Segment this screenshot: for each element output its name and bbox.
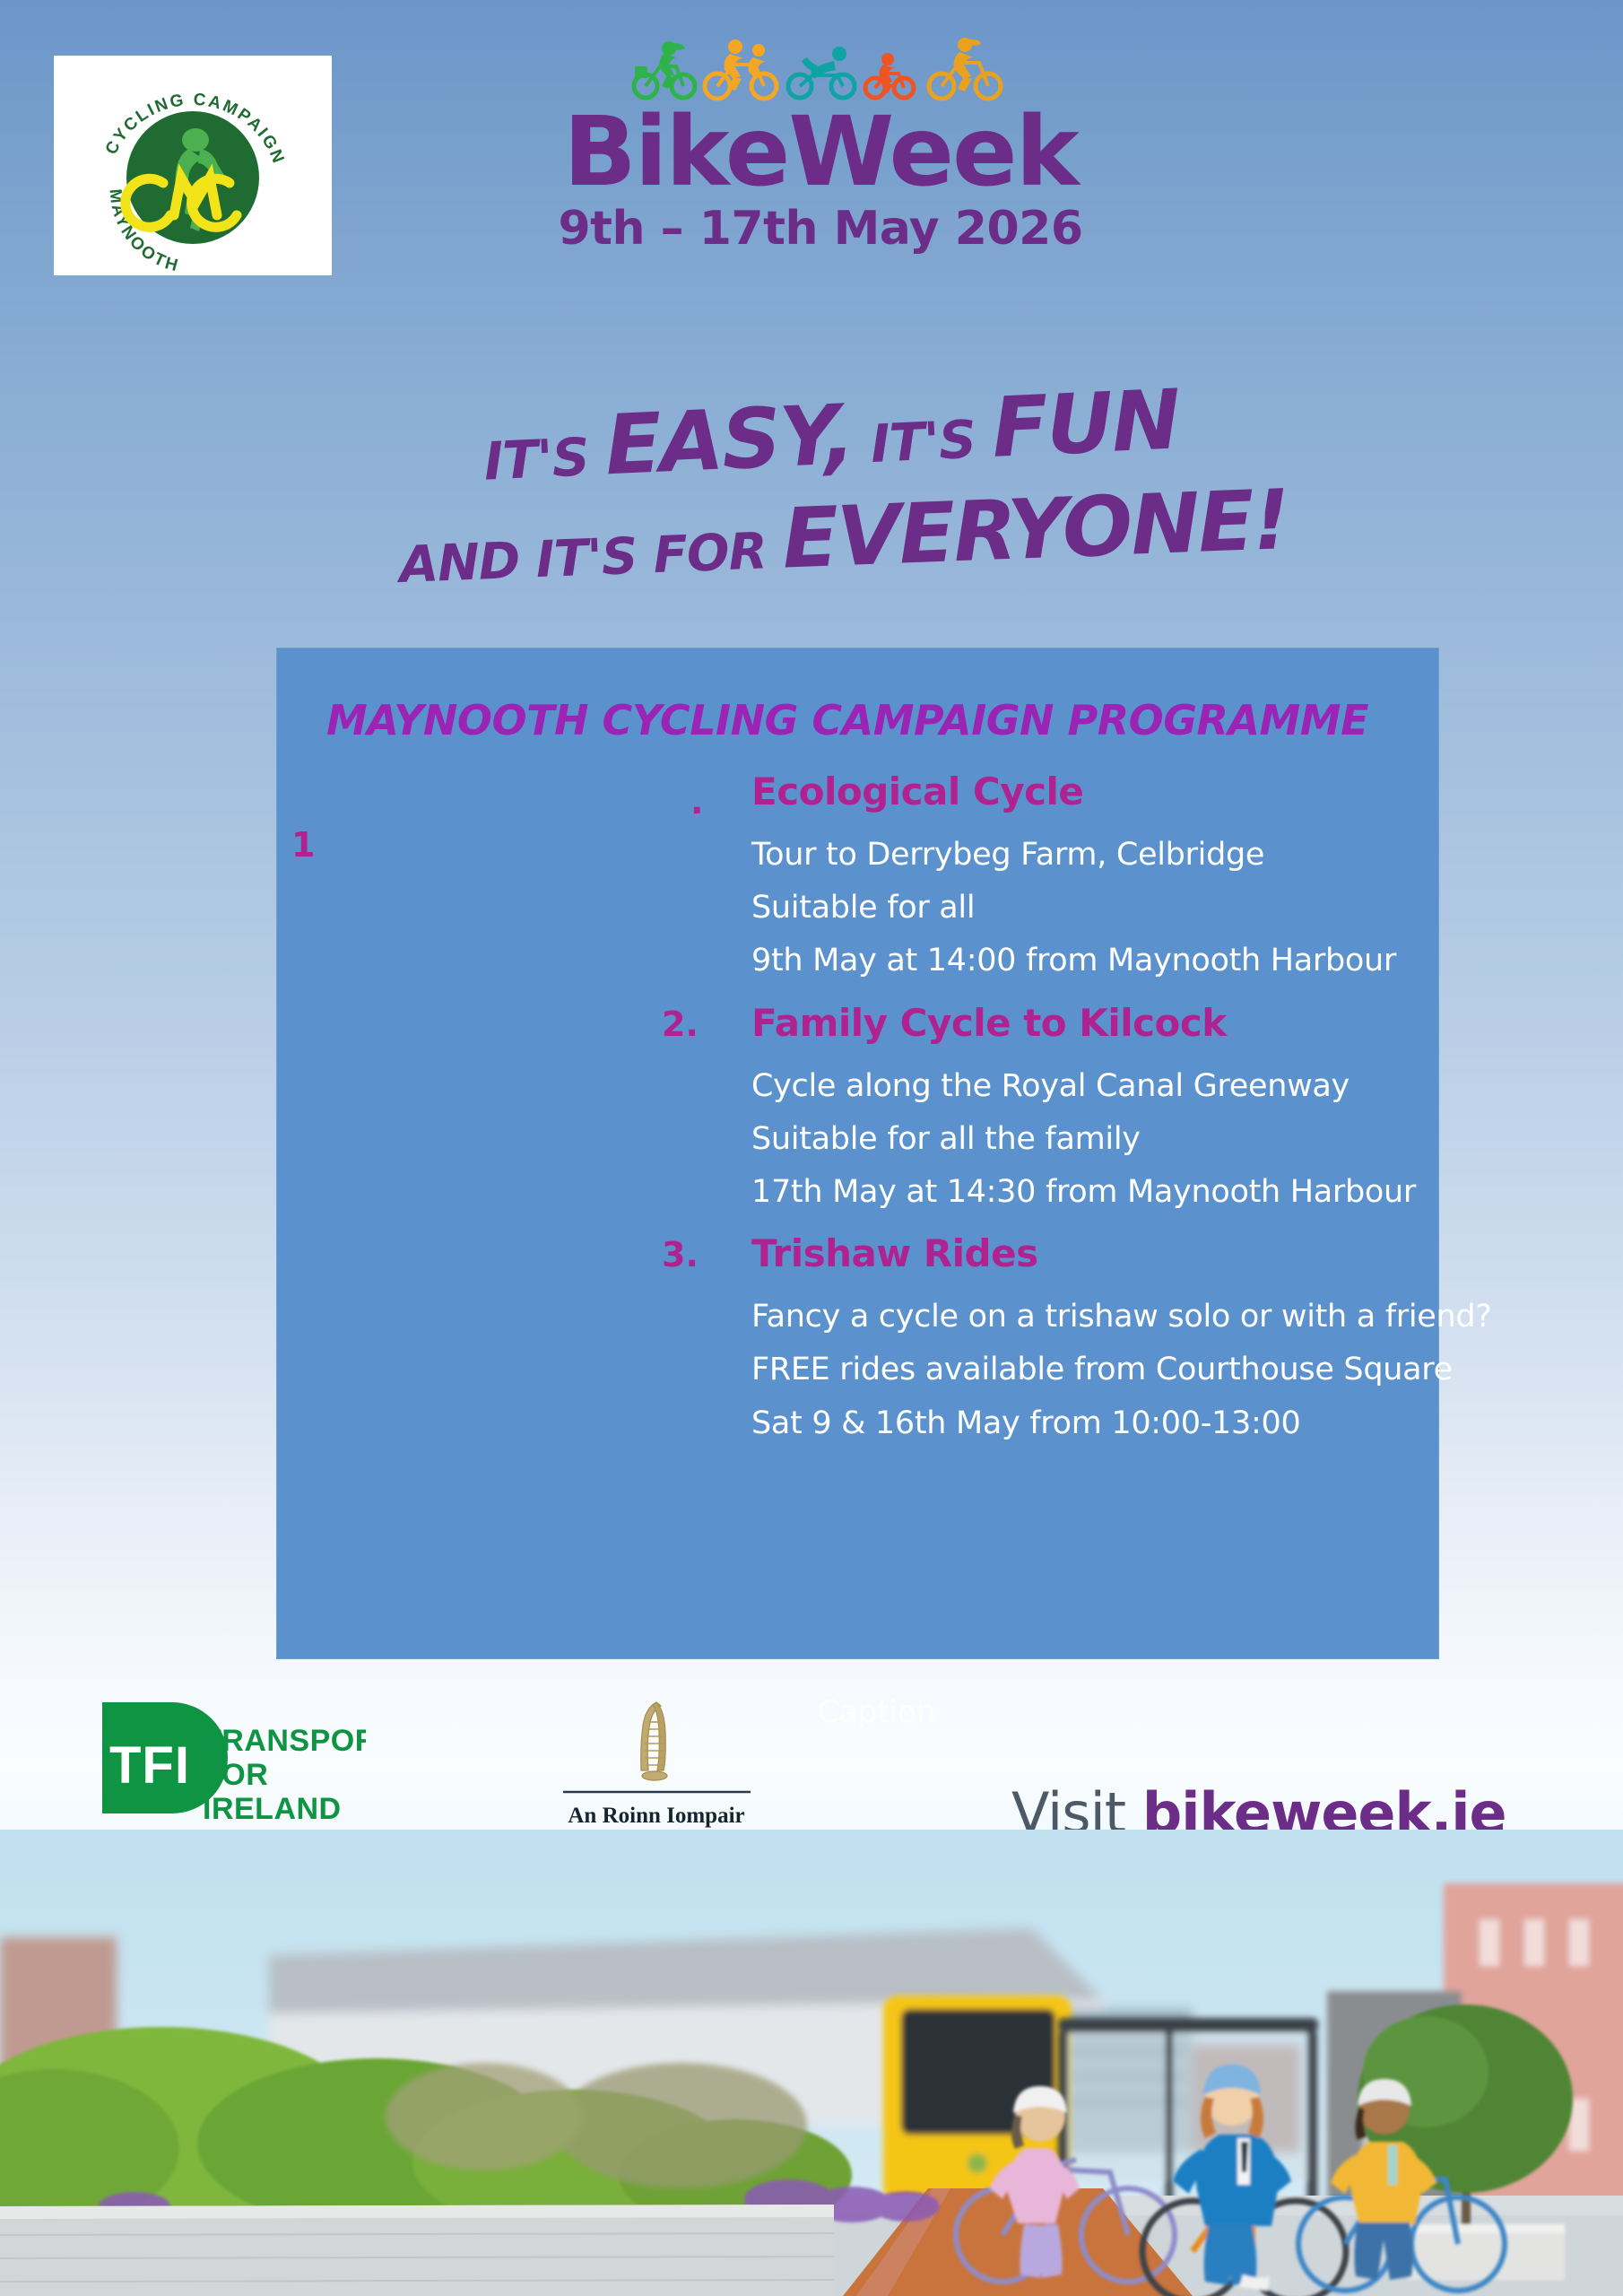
event-1-line-3: 9th May at 14:00 from Maynooth Harbour <box>751 944 1439 978</box>
cyclist-green-icon <box>634 41 695 98</box>
tagline-fun: FUN <box>990 371 1181 475</box>
event-2-line-2: Suitable for all the family <box>751 1122 1439 1157</box>
event-1-stray-numeral: 1 <box>291 825 315 865</box>
svg-text:TRANSPORT: TRANSPORT <box>203 1724 366 1758</box>
event-2-line-3: 17th May at 14:30 from Maynooth Harbour <box>751 1175 1439 1210</box>
svg-text:FOR: FOR <box>203 1758 268 1792</box>
programme-event-2: 2. Family Cycle to Kilcock Cycle along t… <box>276 1004 1439 1211</box>
svg-text:IRELAND: IRELAND <box>203 1792 342 1826</box>
event-1-line-2: Suitable for all <box>751 891 1439 926</box>
programme-event-1: . 1 Ecological Cycle Tour to Derrybeg Fa… <box>276 773 1439 979</box>
event-1-stray-dot: . <box>690 782 703 822</box>
programme-panel: MAYNOOTH CYCLING CAMPAIGN PROGRAMME . 1 … <box>276 648 1439 1659</box>
tagline-its-1: IT'S <box>482 425 607 491</box>
bikeweek-dates: 9th – 17th May 2026 <box>516 200 1125 258</box>
event-2-line-1: Cycle along the Royal Canal Greenway <box>751 1069 1439 1104</box>
caption-placeholder: Caption <box>818 1694 935 1730</box>
event-2-number: 2. <box>662 1004 712 1044</box>
maynooth-cycling-campaign-logo: CYCLING CAMPAIGN MAYNOOTH <box>54 56 332 275</box>
event-3-line-3: Sat 9 & 16th May from 10:00-13:00 <box>751 1406 1439 1441</box>
cyclist-red-child-icon <box>865 53 914 98</box>
cycling-scene-photo <box>0 1830 1623 2296</box>
programme-event-3: 3. Trishaw Rides Fancy a cycle on a tris… <box>276 1235 1439 1441</box>
event-1-line-1: Tour to Derrybeg Farm, Celbridge <box>751 838 1439 873</box>
event-3-number: 3. <box>662 1235 712 1274</box>
tagline-and-its-for: AND IT'S FOR <box>398 522 784 595</box>
bikeweek-masthead: BikeWeek 9th – 17th May 2026 <box>516 34 1125 258</box>
svg-text:An Roinn Iompair: An Roinn Iompair <box>568 1804 744 1828</box>
bike-icons-row <box>628 34 1013 104</box>
bikeweek-title: BikeWeek <box>516 106 1125 200</box>
event-3-head: 3. Trishaw Rides <box>276 1235 1439 1283</box>
cyclist-teal-recumbent-icon <box>788 47 855 98</box>
event-3-title: Trishaw Rides <box>751 1231 1038 1275</box>
cyclist-orange-tandem-icon <box>705 39 777 99</box>
event-1-details: Tour to Derrybeg Farm, Celbridge Suitabl… <box>751 822 1439 979</box>
programme-heading: MAYNOOTH CYCLING CAMPAIGN PROGRAMME <box>326 696 1368 744</box>
tagline-its-2: IT'S <box>852 408 994 475</box>
bikeweek-poster: CYCLING CAMPAIGN MAYNOOTH <box>0 0 1623 2296</box>
event-3-line-2: FREE rides available from Courthouse Squ… <box>751 1352 1439 1387</box>
svg-text:TFI: TFI <box>109 1736 190 1795</box>
irish-harp-icon <box>641 1702 667 1780</box>
cyclist-amber-icon <box>929 38 1001 99</box>
event-3-line-1: Fancy a cycle on a trishaw solo or with … <box>751 1300 1439 1335</box>
event-2-head: 2. Family Cycle to Kilcock <box>276 1004 1439 1053</box>
event-1-head: . 1 Ecological Cycle <box>276 773 1439 822</box>
tagline-everyone: EVERYONE! <box>781 472 1290 587</box>
event-2-details: Cycle along the Royal Canal Greenway Sui… <box>751 1053 1439 1211</box>
event-3-details: Fancy a cycle on a trishaw solo or with … <box>751 1283 1439 1441</box>
tagline: IT'S EASY, IT'S FUN AND IT'S FOR EVERYON… <box>350 387 1318 585</box>
event-2-title: Family Cycle to Kilcock <box>751 1001 1227 1045</box>
tagline-easy: EASY, <box>603 387 855 493</box>
programme-events-list: . 1 Ecological Cycle Tour to Derrybeg Fa… <box>276 773 1439 1466</box>
event-1-title: Ecological Cycle <box>751 770 1083 813</box>
